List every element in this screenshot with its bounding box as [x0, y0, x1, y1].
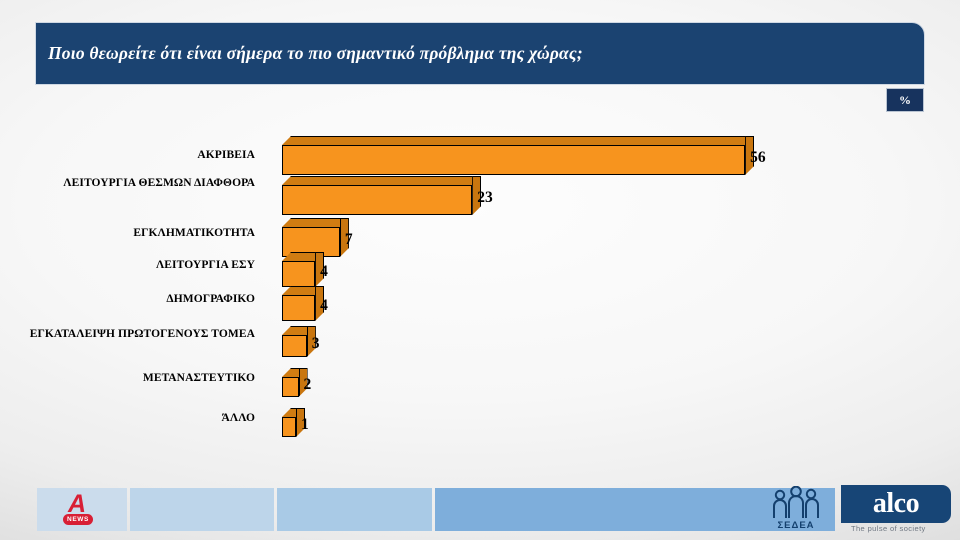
alpha-news-badge: NEWS [63, 514, 93, 525]
bar-chart-plot: ΑΚΡΙΒΕΙΑ56ΛΕΙΤΟΥΡΓΙΑ ΘΕΣΜΩΝ ΔΙΑΦΘΟΡΑ23ΕΓ… [0, 128, 960, 458]
alco-tagline: The pulse of society [851, 524, 951, 533]
category-label: ΕΓΚΛΗΜΑΤΙΚΟΤΗΤΑ [15, 227, 255, 240]
bar-front-face [282, 145, 745, 175]
title-band: Ποιο θεωρείτε ότι είναι σήμερα το πιο ση… [35, 22, 925, 85]
bar-2 [282, 176, 481, 215]
bar-front-face [282, 185, 472, 215]
bar-front-face [282, 335, 307, 357]
bar-top-face [282, 176, 481, 185]
bar-front-face [282, 261, 315, 287]
bar-5 [282, 286, 324, 321]
footer-block-3 [277, 488, 432, 531]
bar-value-label: 4 [320, 263, 328, 281]
bar-1 [282, 136, 754, 175]
percent-unit-badge: % [886, 88, 924, 112]
bar-value-label: 2 [304, 376, 312, 394]
bar-value-label: 3 [312, 335, 320, 353]
slide-canvas: Ποιο θεωρείτε ότι είναι σήμερα το πιο ση… [0, 0, 960, 540]
alpha-news-logo: A NEWS [62, 492, 96, 528]
bar-front-face [282, 377, 299, 397]
bar-front-face [282, 295, 315, 321]
sedea-label: ΣΕΔΕΑ [765, 520, 827, 531]
sedea-figures-icon [765, 486, 827, 520]
category-label: ΜΕΤΑΝΑΣΤΕΥΤΙΚΟ [15, 372, 255, 385]
category-label: ΑΚΡΙΒΕΙΑ [15, 149, 255, 162]
bar-4 [282, 252, 324, 287]
sedea-logo: ΣΕΔΕΑ [765, 486, 827, 532]
bar-top-face [282, 218, 349, 227]
bar-value-label: 56 [750, 149, 766, 167]
alco-logo: alco [841, 485, 951, 523]
bar-top-face [282, 136, 754, 145]
category-label: ΛΕΙΤΟΥΡΓΙΑ ΘΕΣΜΩΝ ΔΙΑΦΘΟΡΑ [15, 177, 255, 190]
footer-block-2 [130, 488, 274, 531]
category-label: ΆΛΛΟ [15, 412, 255, 425]
bar-value-label: 4 [320, 297, 328, 315]
bar-front-face [282, 417, 296, 437]
bar-value-label: 23 [477, 189, 493, 207]
alco-wordmark: alco [873, 490, 919, 518]
category-label: ΛΕΙΤΟΥΡΓΙΑ ΕΣΥ [15, 259, 255, 272]
page-title: Ποιο θεωρείτε ότι είναι σήμερα το πιο ση… [36, 43, 583, 64]
bar-value-label: 7 [345, 231, 353, 249]
category-label: ΕΓΚΑΤΑΛΕΙΨΗ ΠΡΩΤΟΓΕΝΟΥΣ ΤΟΜΕΑ [15, 328, 255, 341]
category-label: ΔΗΜΟΓΡΑΦΙΚΟ [15, 293, 255, 306]
bar-6 [282, 326, 316, 357]
bar-value-label: 1 [301, 416, 309, 434]
